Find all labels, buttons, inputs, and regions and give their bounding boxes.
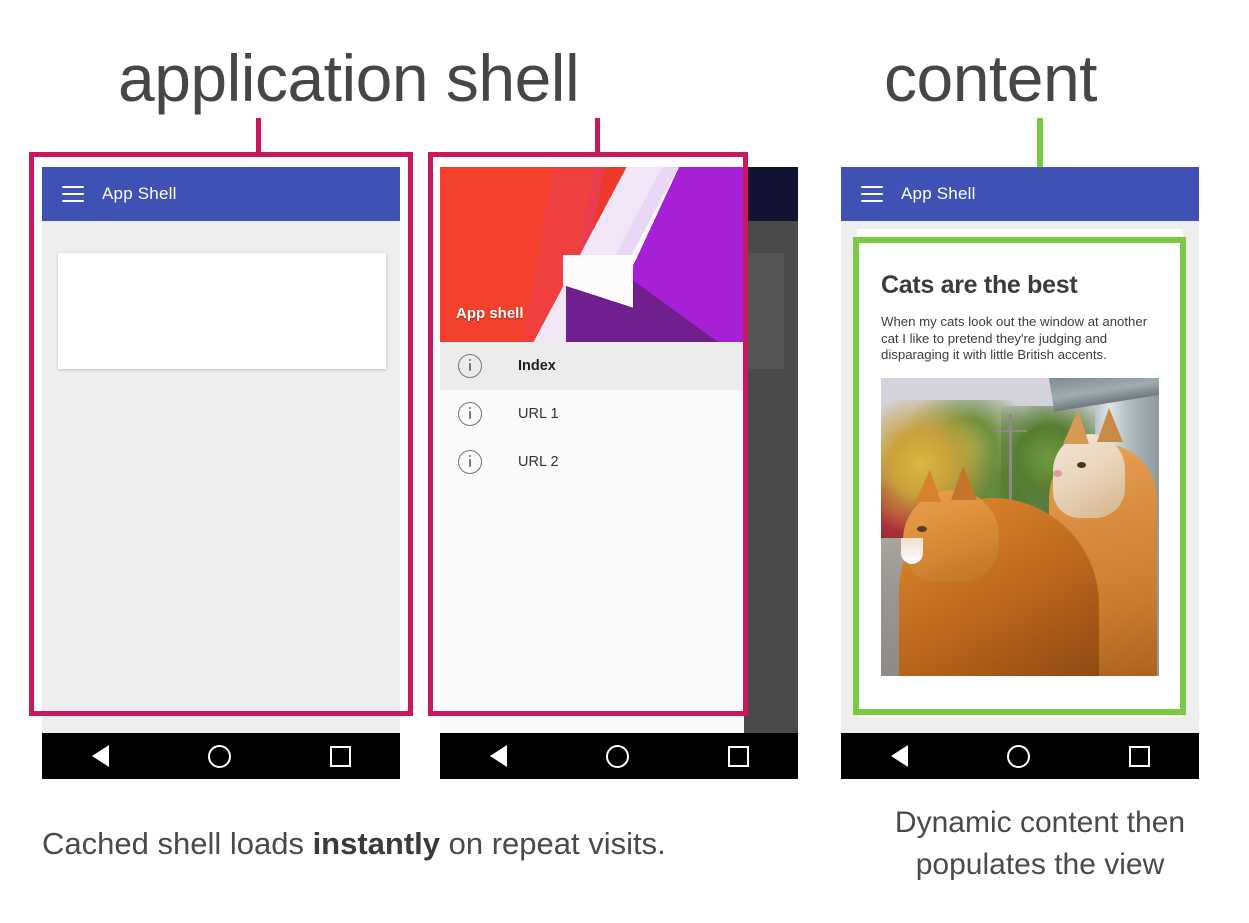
highlight-frame-shell-1 — [29, 152, 413, 716]
heading-application-shell: application shell — [118, 40, 579, 116]
connector-line-shell-left — [256, 118, 261, 154]
back-triangle-icon[interactable] — [490, 745, 507, 767]
phone2-navbar — [440, 733, 798, 779]
phone3-appbar-title: App Shell — [901, 184, 976, 204]
caption-left: Cached shell loads instantly on repeat v… — [42, 824, 666, 864]
highlight-frame-content — [853, 237, 1186, 715]
home-circle-icon[interactable] — [606, 745, 629, 768]
caption-left-before: Cached shell loads — [42, 826, 313, 861]
home-circle-icon[interactable] — [208, 745, 231, 768]
back-triangle-icon[interactable] — [891, 745, 908, 767]
caption-right: Dynamic content then populates the view — [840, 802, 1240, 886]
phone3-navbar — [841, 733, 1199, 779]
phone3-appbar: App Shell — [841, 167, 1199, 221]
caption-left-emphasis: instantly — [313, 826, 440, 861]
home-circle-icon[interactable] — [1007, 745, 1030, 768]
connector-line-shell-right — [595, 118, 600, 154]
recents-square-icon[interactable] — [330, 746, 351, 767]
recents-square-icon[interactable] — [1129, 746, 1150, 767]
diagram-canvas: application shell content App Shell — [0, 0, 1249, 923]
heading-content: content — [884, 40, 1097, 116]
phone1-navbar — [42, 733, 400, 779]
recents-square-icon[interactable] — [728, 746, 749, 767]
back-triangle-icon[interactable] — [92, 745, 109, 767]
caption-left-after: on repeat visits. — [440, 826, 666, 861]
highlight-frame-shell-2 — [428, 152, 748, 716]
hamburger-icon[interactable] — [861, 186, 883, 202]
